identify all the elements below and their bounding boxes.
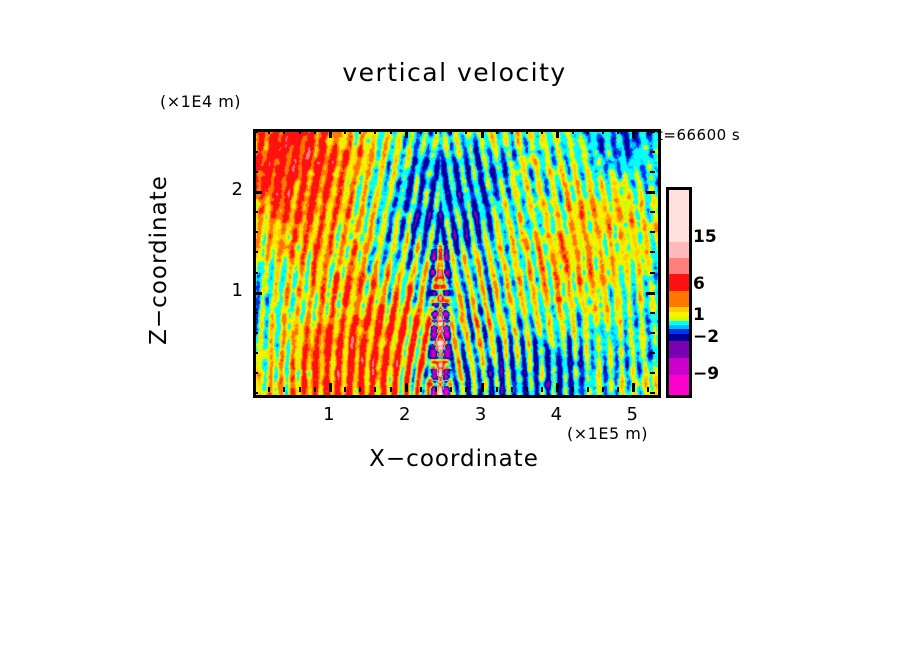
colorbar-label-1: 1 <box>693 305 705 325</box>
y-axis-title: Z−coordinate <box>146 110 172 410</box>
x-axis-multiplier-label: (×1E5 m) <box>567 424 648 443</box>
colorbar-label-6: 6 <box>693 274 705 294</box>
page-title: vertical velocity <box>253 58 656 87</box>
colorbar-band-12 <box>669 258 689 273</box>
colorbar-band-0 <box>669 375 689 395</box>
colorbar-label--9: −9 <box>693 364 719 384</box>
time-annotation: t=66600 s <box>657 126 740 144</box>
colorbar-band-1 <box>669 358 689 375</box>
colorbar-band-14 <box>669 190 689 242</box>
colorbar-band-11 <box>669 274 689 291</box>
vertical-velocity-field <box>256 132 658 395</box>
x-axis-title: X−coordinate <box>253 446 655 472</box>
x-tick-label-5: 5 <box>612 404 652 425</box>
x-tick-label-1: 1 <box>309 404 349 425</box>
y-axis-multiplier-label: (×1E4 m) <box>160 92 241 111</box>
colorbar <box>666 187 692 398</box>
colorbar-band-2 <box>669 341 689 358</box>
colorbar-label-15: 15 <box>693 227 717 247</box>
y-tick-label-1: 1 <box>221 280 243 301</box>
colorbar-band-13 <box>669 242 689 258</box>
y-tick-label-2: 2 <box>221 179 243 200</box>
colorbar-label--2: −2 <box>693 327 719 347</box>
contour-plot-area <box>253 129 661 398</box>
colorbar-band-10 <box>669 291 689 307</box>
x-tick-label-2: 2 <box>385 404 425 425</box>
x-tick-label-3: 3 <box>461 404 501 425</box>
x-tick-label-4: 4 <box>536 404 576 425</box>
